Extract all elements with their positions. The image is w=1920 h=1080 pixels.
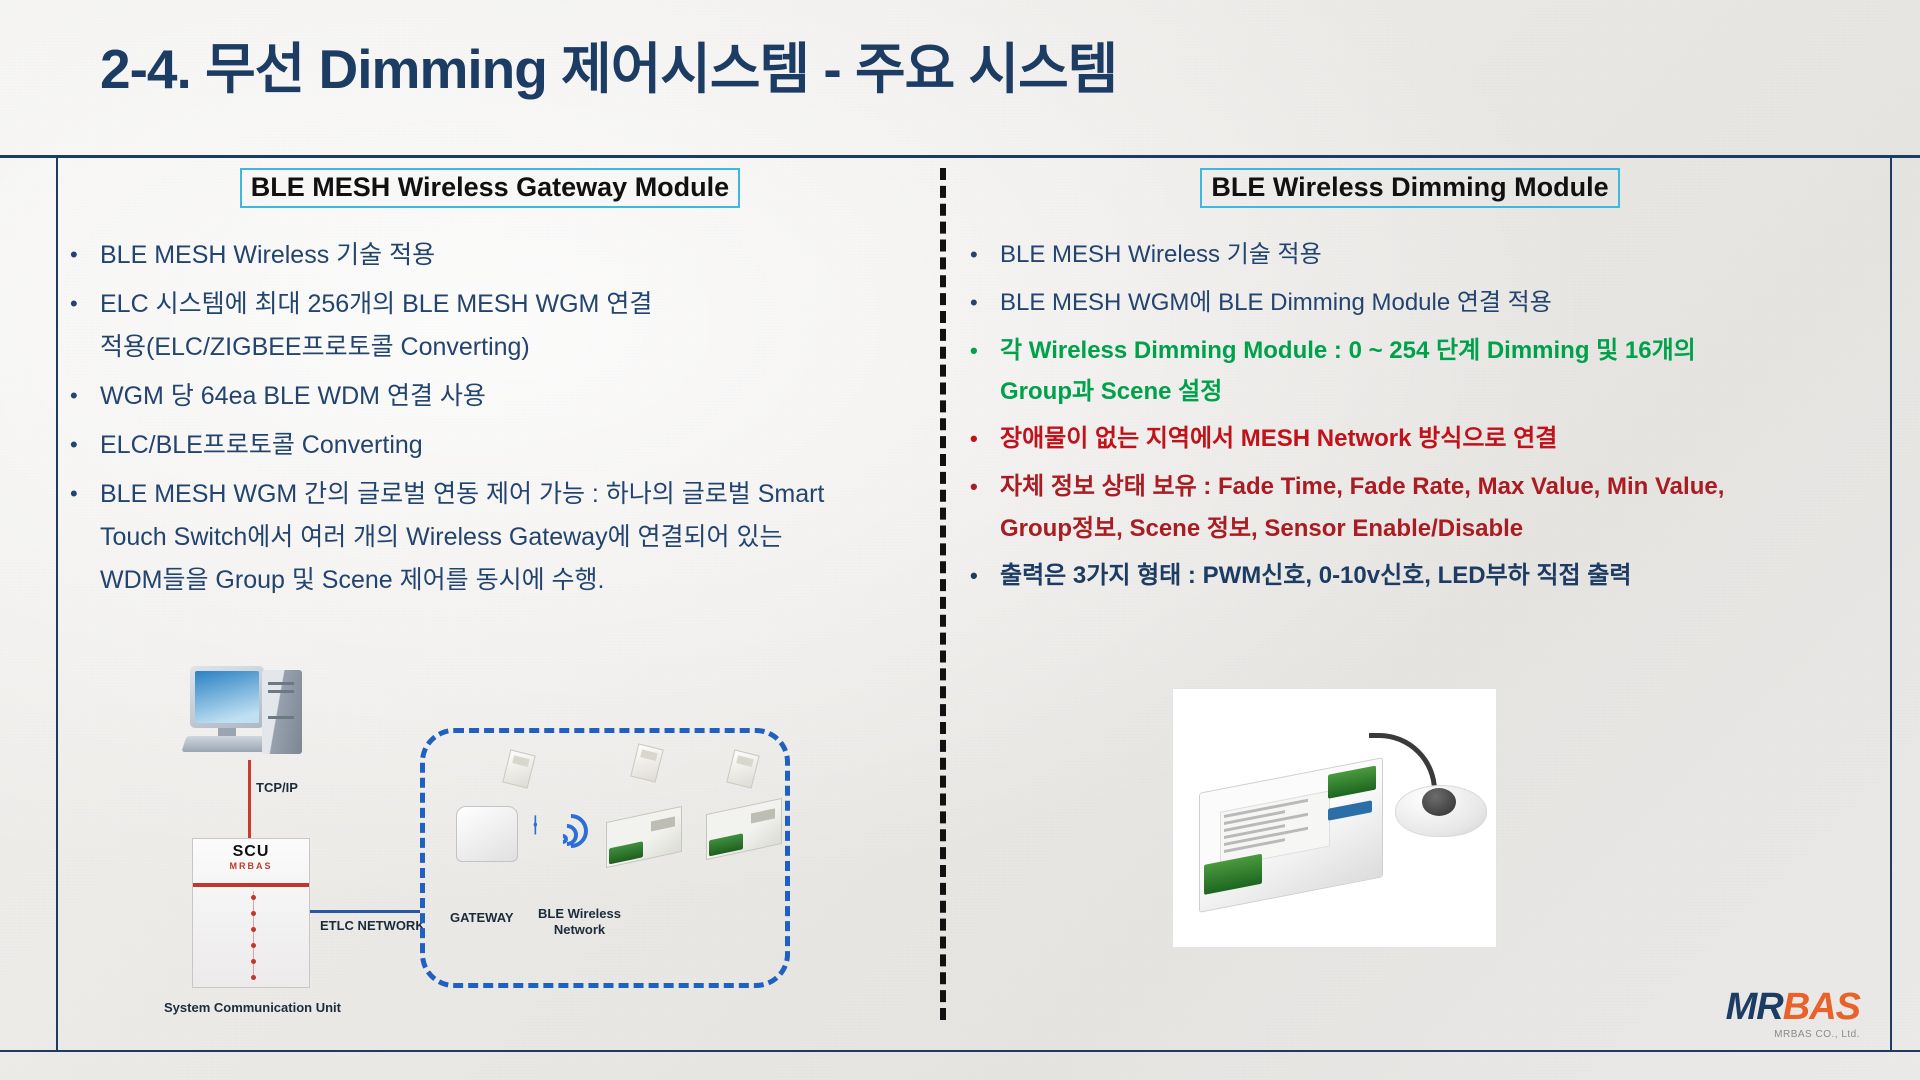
tcpip-label: TCP/IP xyxy=(256,780,298,795)
list-item: • BLE MESH WGM 간의 글로벌 연동 제어 가능 : 하나의 글로벌… xyxy=(60,473,920,602)
list-item-line: BLE MESH Wireless 기술 적용 xyxy=(1000,234,1860,275)
right-column: BLE Wireless Dimming Module • BLE MESH W… xyxy=(960,168,1860,603)
bullet-dot-icon: • xyxy=(960,330,1000,372)
right-column-header: BLE Wireless Dimming Module xyxy=(1200,168,1619,208)
bullet-dot-icon: • xyxy=(960,418,1000,460)
terminal-block-icon xyxy=(1204,854,1262,895)
list-item-line: BLE MESH WGM에 BLE Dimming Module 연결 적용 xyxy=(1000,282,1860,323)
list-item-text: 장애물이 없는 지역에서 MESH Network 방식으로 연결 xyxy=(1000,418,1860,459)
list-item-text: BLE MESH WGM 간의 글로벌 연동 제어 가능 : 하나의 글로벌 S… xyxy=(100,473,920,602)
logo-mark-part2: BAS xyxy=(1783,986,1860,1028)
company-logo: MRBAS MRBAS CO., Ltd. xyxy=(1726,988,1860,1040)
right-edge-rule xyxy=(1890,155,1892,1052)
list-item-line: 각 Wireless Dimming Module : 0 ~ 254 단계 D… xyxy=(1000,330,1860,371)
page-title: 2-4. 무선 Dimming 제어시스템 - 주요 시스템 xyxy=(100,24,1117,104)
page-title-text: 무선 Dimming 제어시스템 - 주요 시스템 xyxy=(205,38,1117,100)
network-diagram-figure: TCP/IP SCU MRBAS System Communication Un… xyxy=(150,660,790,940)
scu-brand-label: MRBAS xyxy=(193,861,309,871)
list-item-line: WDM들을 Group 및 Scene 제어를 동시에 수행. xyxy=(100,559,920,602)
list-item: • ELC 시스템에 최대 256개의 BLE MESH WGM 연결 적용(E… xyxy=(60,283,920,369)
list-item-text: 자체 정보 상태 보유 : Fade Time, Fade Rate, Max … xyxy=(1000,466,1860,549)
list-item-line: 적용(ELC/ZIGBEE프로토콜 Converting) xyxy=(100,326,920,369)
ble-network-label: BLE Wireless Network xyxy=(538,906,621,939)
list-item-line: WGM 당 64ea BLE WDM 연결 사용 xyxy=(100,375,920,418)
logo-mark-part1: MR xyxy=(1726,986,1783,1028)
page-title-number: 2-4. xyxy=(100,38,191,100)
list-item-text: BLE MESH Wireless 기술 적용 xyxy=(100,234,920,277)
keyboard-icon xyxy=(181,736,272,752)
monitor-icon xyxy=(190,666,264,728)
logo-mark: MRBAS xyxy=(1726,988,1860,1026)
list-item: • 장애물이 없는 지역에서 MESH Network 방식으로 연결 xyxy=(960,418,1860,460)
list-item: • ELC/BLE프로토콜 Converting xyxy=(60,424,920,467)
list-item: • 출력은 3가지 형태 : PWM신호, 0-10v신호, LED부하 직접 … xyxy=(960,555,1860,597)
header-divider-rule xyxy=(0,155,1920,158)
connector-icon xyxy=(1328,800,1372,821)
right-column-bullet-list: • BLE MESH Wireless 기술 적용 • BLE MESH WGM… xyxy=(960,234,1860,596)
etlc-network-line xyxy=(310,910,420,913)
column-dashed-divider xyxy=(940,168,946,1020)
left-edge-rule xyxy=(56,155,58,1052)
bullet-dot-icon: • xyxy=(960,282,1000,324)
list-item: • 자체 정보 상태 보유 : Fade Time, Fade Rate, Ma… xyxy=(960,466,1860,549)
list-item-text: ELC 시스템에 최대 256개의 BLE MESH WGM 연결 적용(ELC… xyxy=(100,283,920,369)
list-item-line: ELC 시스템에 최대 256개의 BLE MESH WGM 연결 xyxy=(100,283,920,326)
dimming-module-icon xyxy=(1199,757,1383,913)
ble-network-label-line1: BLE Wireless xyxy=(538,906,621,921)
list-item-line: Touch Switch에서 여러 개의 Wireless Gateway에 연… xyxy=(100,516,920,559)
bullet-dot-icon: • xyxy=(960,234,1000,276)
list-item-text: 각 Wireless Dimming Module : 0 ~ 254 단계 D… xyxy=(1000,330,1860,413)
module-spec-label xyxy=(1220,790,1330,867)
list-item-line: 출력은 3가지 형태 : PWM신호, 0-10v신호, LED부하 직접 출력 xyxy=(1000,555,1860,596)
list-item: • 각 Wireless Dimming Module : 0 ~ 254 단계… xyxy=(960,330,1860,413)
pc-tower-icon xyxy=(262,670,302,754)
dimming-module-photo xyxy=(1172,688,1497,948)
list-item-line: BLE MESH WGM 간의 글로벌 연동 제어 가능 : 하나의 글로벌 S… xyxy=(100,473,920,516)
list-item: • WGM 당 64ea BLE WDM 연결 사용 xyxy=(60,375,920,418)
scu-title-label: SCU xyxy=(193,839,309,861)
tcpip-connection-line xyxy=(248,760,251,838)
list-item-text: BLE MESH WGM에 BLE Dimming Module 연결 적용 xyxy=(1000,282,1860,323)
list-item: • BLE MESH Wireless 기술 적용 xyxy=(60,234,920,277)
list-item: • BLE MESH WGM에 BLE Dimming Module 연결 적용 xyxy=(960,282,1860,324)
bullet-dot-icon: • xyxy=(60,424,100,466)
bullet-dot-icon: • xyxy=(960,466,1000,508)
list-item-line: 장애물이 없는 지역에서 MESH Network 방식으로 연결 xyxy=(1000,418,1860,459)
list-item-text: BLE MESH Wireless 기술 적용 xyxy=(1000,234,1860,275)
bullet-dot-icon: • xyxy=(60,473,100,515)
left-column-bullet-list: • BLE MESH Wireless 기술 적용 • ELC 시스템에 최대 … xyxy=(60,234,920,602)
motion-sensor-icon xyxy=(1395,785,1487,837)
etlc-network-label: ETLC NETWORK xyxy=(320,918,425,933)
logo-subtitle: MRBAS CO., Ltd. xyxy=(1726,1030,1860,1040)
list-item-text: WGM 당 64ea BLE WDM 연결 사용 xyxy=(100,375,920,418)
ble-network-label-line2: Network xyxy=(554,922,605,937)
scu-device-icon: SCU MRBAS xyxy=(192,838,310,988)
left-column: BLE MESH Wireless Gateway Module • BLE M… xyxy=(60,168,920,608)
footer-divider-rule xyxy=(0,1050,1920,1052)
bluetooth-wireless-icon: ⍿ xyxy=(528,800,598,866)
list-item-line: BLE MESH Wireless 기술 적용 xyxy=(100,234,920,277)
list-item-line: Group과 Scene 설정 xyxy=(1000,371,1860,412)
gateway-device-icon xyxy=(456,806,518,862)
desktop-computer-icon xyxy=(190,660,310,760)
list-item-line: ELC/BLE프로토콜 Converting xyxy=(100,424,920,467)
left-column-header: BLE MESH Wireless Gateway Module xyxy=(240,168,740,208)
gateway-label: GATEWAY xyxy=(450,910,514,925)
list-item-line: Group정보, Scene 정보, Sensor Enable/Disable xyxy=(1000,508,1860,549)
bullet-dot-icon: • xyxy=(60,234,100,276)
bullet-dot-icon: • xyxy=(60,375,100,417)
list-item-line: 자체 정보 상태 보유 : Fade Time, Fade Rate, Max … xyxy=(1000,466,1860,507)
bullet-dot-icon: • xyxy=(960,555,1000,597)
list-item: • BLE MESH Wireless 기술 적용 xyxy=(960,234,1860,276)
bullet-dot-icon: • xyxy=(60,283,100,325)
list-item-text: ELC/BLE프로토콜 Converting xyxy=(100,424,920,467)
scu-caption-label: System Communication Unit xyxy=(164,1000,341,1015)
list-item-text: 출력은 3가지 형태 : PWM신호, 0-10v신호, LED부하 직접 출력 xyxy=(1000,555,1860,596)
